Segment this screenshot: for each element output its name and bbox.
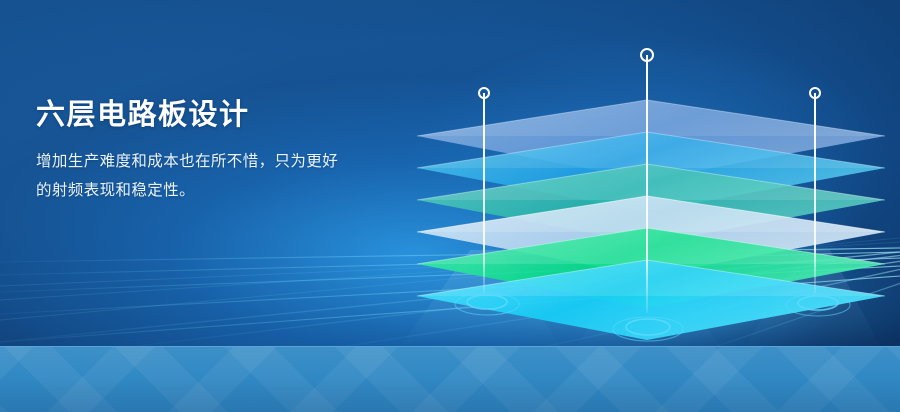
subcopy-line-2: 的射频表现和稳定性。 xyxy=(36,182,195,199)
bottom-band-shade xyxy=(0,347,900,412)
text-block: 六层电路板设计 增加生产难度和成本也在所不惜，只为更好 的射频表现和稳定性。 xyxy=(36,98,416,206)
subcopy: 增加生产难度和成本也在所不惜，只为更好 的射频表现和稳定性。 xyxy=(36,148,416,205)
banner-root: 六层电路板设计 增加生产难度和成本也在所不惜，只为更好 的射频表现和稳定性。 xyxy=(0,0,900,412)
subcopy-line-1: 增加生产难度和成本也在所不惜，只为更好 xyxy=(36,153,338,170)
bottom-band xyxy=(0,346,900,412)
page-title: 六层电路板设计 xyxy=(36,98,416,132)
